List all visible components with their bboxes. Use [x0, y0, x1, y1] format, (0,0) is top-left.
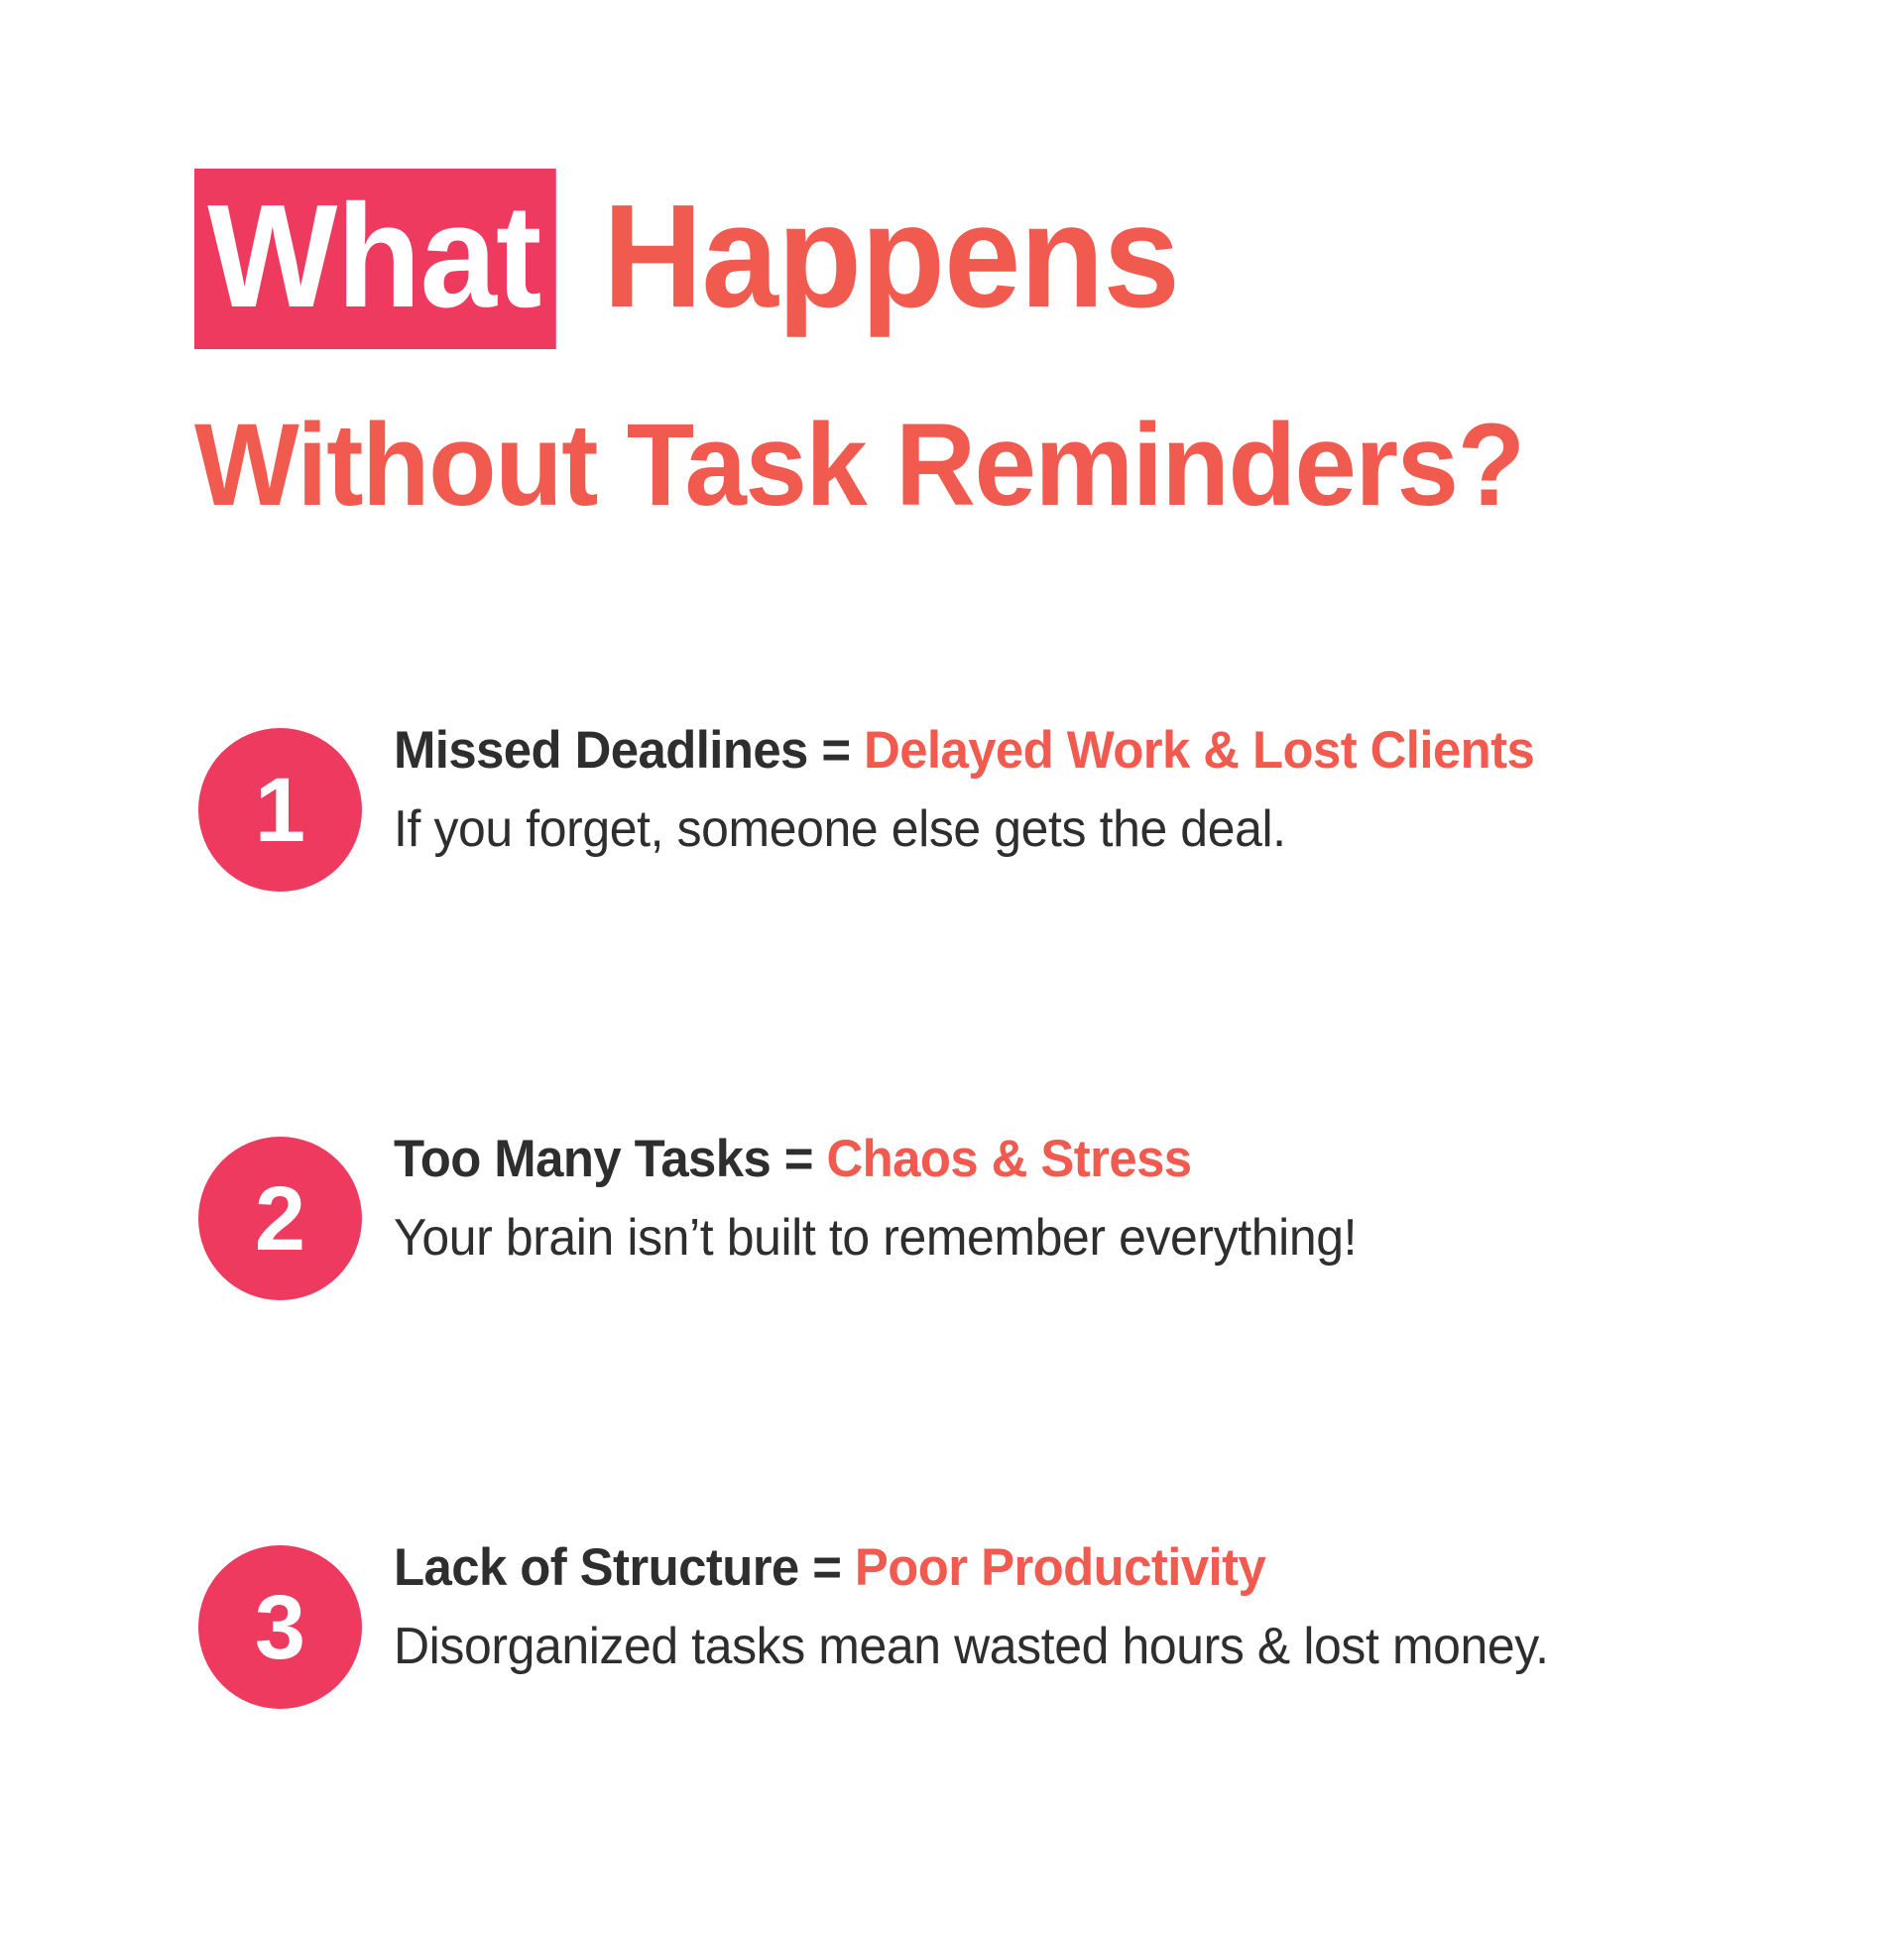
heading-highlight-what: What: [194, 169, 555, 349]
list-item: 1 Missed Deadlines = Delayed Work & Lost…: [198, 716, 1825, 1125]
heading-word-happens: Happens: [603, 169, 1179, 349]
list-item-number-badge: 2: [198, 1137, 362, 1300]
list-item-content: Missed Deadlines = Delayed Work & Lost C…: [362, 716, 1825, 863]
list-item: 3 Lack of Structure = Poor Productivity …: [198, 1533, 1825, 1942]
list-item-title-accent: Chaos & Stress: [826, 1130, 1191, 1188]
list-item: 2 Too Many Tasks = Chaos & Stress Your b…: [198, 1125, 1825, 1533]
list-item-title-dark: Lack of Structure: [394, 1538, 799, 1597]
list-item-title-dark: Too Many Tasks: [394, 1130, 771, 1188]
heading-line-1: What Happens: [194, 169, 1741, 349]
heading-line-2: Without Task Reminders?: [194, 407, 1664, 524]
poster-canvas: What Happens Without Task Reminders? 1 M…: [0, 0, 1904, 1903]
list-item-title-separator: =: [799, 1538, 855, 1597]
list-item-title-separator: =: [771, 1130, 826, 1188]
list-item-title-accent: Delayed Work & Lost Clients: [864, 721, 1534, 780]
list-item-title-accent: Poor Productivity: [855, 1538, 1265, 1597]
list-item-subtitle: If you forget, someone else gets the dea…: [394, 796, 1767, 864]
list-item-title: Missed Deadlines = Delayed Work & Lost C…: [394, 718, 1767, 785]
list-item-content: Lack of Structure = Poor Productivity Di…: [362, 1533, 1825, 1680]
list-item-subtitle: Disorganized tasks mean wasted hours & l…: [394, 1614, 1767, 1681]
list-item-title: Too Many Tasks = Chaos & Stress: [394, 1127, 1767, 1193]
list-item-title: Lack of Structure = Poor Productivity: [394, 1535, 1767, 1602]
page-title: What Happens Without Task Reminders?: [194, 169, 1741, 524]
list-item-title-separator: =: [808, 721, 864, 780]
consequences-list: 1 Missed Deadlines = Delayed Work & Lost…: [198, 716, 1825, 1942]
list-item-subtitle: Your brain isn’t built to remember every…: [394, 1205, 1767, 1273]
list-item-number-badge: 3: [198, 1545, 362, 1709]
list-item-title-dark: Missed Deadlines: [394, 721, 808, 780]
list-item-content: Too Many Tasks = Chaos & Stress Your bra…: [362, 1125, 1825, 1272]
list-item-number-badge: 1: [198, 728, 362, 892]
